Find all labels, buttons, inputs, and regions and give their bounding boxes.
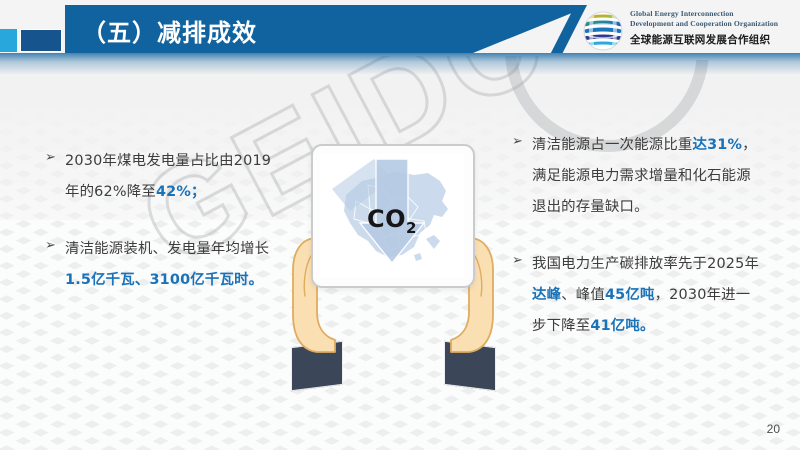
bullet-highlight: 41亿吨。 (590, 318, 654, 334)
page-number: 20 (767, 422, 780, 436)
bullet-text: 清洁能源装机、发电量年均增长1.5亿千瓦、3100亿千瓦时。 (65, 241, 269, 288)
bullet-highlight: 45亿吨 (605, 287, 655, 303)
slide-canvas: GEIDCO （五）减排成效 (0, 0, 800, 450)
bullet-highlight: 达峰 (532, 287, 561, 303)
organization-logo: Global Energy Interconnection Developmen… (582, 8, 797, 54)
header-gradient-fade (0, 53, 800, 75)
bullet-text-part: 我国电力生产碳排放率先于2025年 (532, 256, 759, 272)
co2-subscript: 2 (406, 219, 417, 237)
bullet-arrow-icon: ➢ (512, 131, 523, 151)
co2-text: CO (367, 205, 406, 233)
bullet-arrow-icon: ➢ (512, 250, 523, 270)
bullet-item: ➢ 清洁能源装机、发电量年均增长1.5亿千瓦、3100亿千瓦时。 (45, 234, 285, 296)
bullet-arrow-icon: ➢ (45, 235, 56, 255)
bullet-item: ➢ 清洁能源占一次能源比重达31%，满足能源电力需求增量和化石能源退出的存量缺口… (512, 130, 762, 223)
logo-english-line-2: Development and Cooperation Organization (630, 19, 798, 29)
left-bullet-column: ➢ 2030年煤电发电量占比由2019年的62%降至42%； ➢ 清洁能源装机、… (45, 146, 285, 322)
page-title: （五）减排成效 (82, 13, 257, 48)
logo-chinese-name: 全球能源互联网发展合作组织 (630, 32, 798, 47)
logo-text-block: Global Energy Interconnection Developmen… (630, 9, 798, 47)
bullet-arrow-icon: ➢ (45, 147, 56, 167)
bullet-text-part: 清洁能源装机、发电量年均增长 (65, 241, 269, 257)
bullet-item: ➢ 我国电力生产碳排放率先于2025年达峰、峰值45亿吨，2030年进一步下降至… (512, 249, 762, 342)
bullet-highlight: 1.5亿千瓦、3100亿千瓦时。 (65, 272, 263, 288)
bullet-text: 我国电力生产碳排放率先于2025年达峰、峰值45亿吨，2030年进一步下降至41… (532, 256, 759, 334)
co2-tablet-illustration: CO2 (281, 130, 506, 390)
bullet-highlight: 42% (156, 184, 191, 200)
bullet-text-part: 、峰值 (561, 287, 605, 303)
right-bullet-column: ➢ 清洁能源占一次能源比重达31%，满足能源电力需求增量和化石能源退出的存量缺口… (512, 130, 762, 368)
bullet-highlight: 达31% (693, 137, 743, 153)
globe-icon (582, 10, 624, 52)
bullet-text-part: ； (191, 184, 206, 200)
header-accent-square-cyan (0, 29, 17, 52)
logo-english-line-1: Global Energy Interconnection (630, 9, 798, 19)
header-accent-square-navy (20, 29, 62, 52)
bullet-text: 2030年煤电发电量占比由2019年的62%降至42%； (65, 153, 271, 200)
tablet-screen: CO2 (320, 153, 464, 277)
bullet-text-part: 清洁能源占一次能源比重 (532, 137, 693, 153)
bullet-item: ➢ 2030年煤电发电量占比由2019年的62%降至42%； (45, 146, 285, 208)
bullet-text: 清洁能源占一次能源比重达31%，满足能源电力需求增量和化石能源退出的存量缺口。 (532, 137, 757, 215)
co2-label: CO2 (320, 205, 464, 237)
tablet-device: CO2 (311, 144, 475, 288)
